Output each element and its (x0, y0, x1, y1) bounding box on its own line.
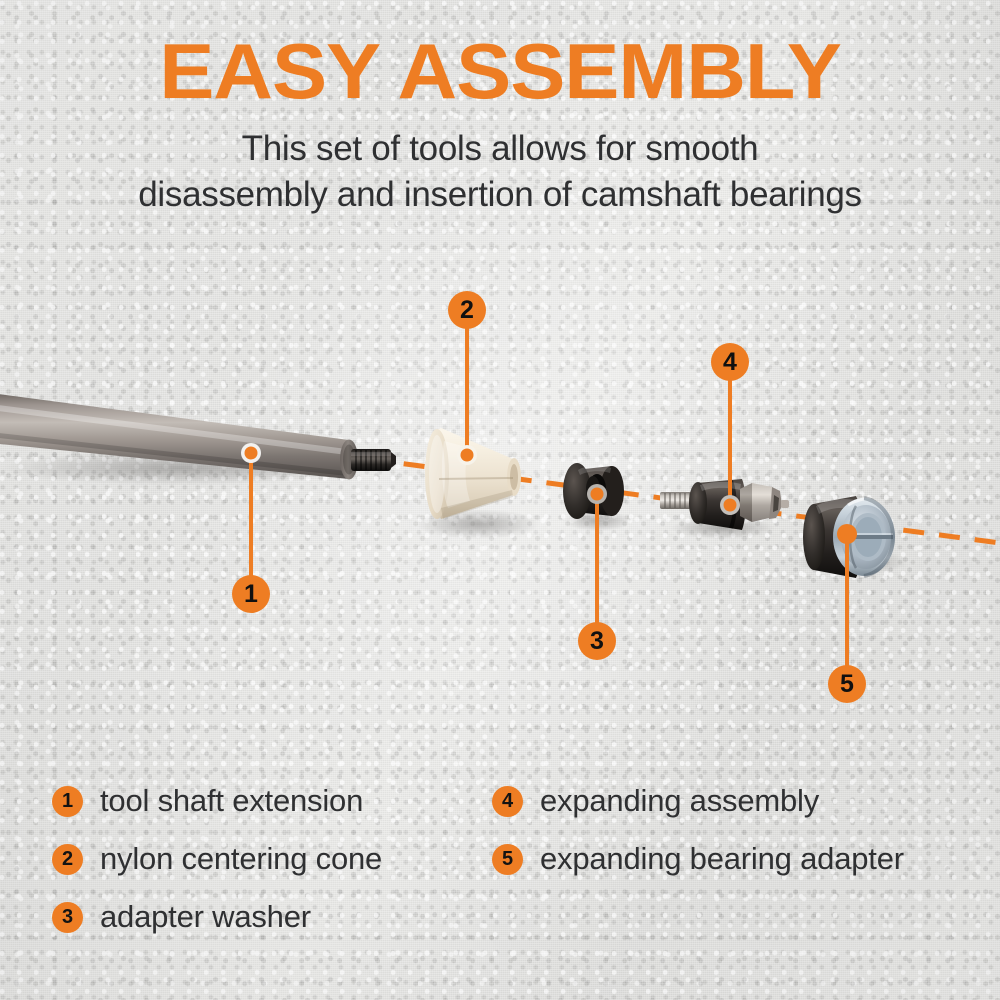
callout-badge-1[interactable]: 1 (232, 575, 270, 613)
legend-label-1: tool shaft extension (100, 784, 363, 818)
legend-badge-4: 4 (492, 786, 523, 817)
callout-badge-2[interactable]: 2 (448, 291, 486, 329)
legend-label-2: nylon centering cone (100, 842, 382, 876)
legend-item-adapter-washer[interactable]: 3 adapter washer (52, 888, 482, 946)
legend-badge-2: 2 (52, 844, 83, 875)
legend-item-tool-shaft-extension[interactable]: 1 tool shaft extension (52, 772, 482, 830)
header: EASY ASSEMBLY This set of tools allows f… (0, 28, 1000, 218)
legend-item-expanding-assembly[interactable]: 4 expanding assembly (492, 772, 972, 830)
legend-column-left: 1 tool shaft extension 2 nylon centering… (52, 772, 482, 946)
legend-badge-5: 5 (492, 844, 523, 875)
legend-label-4: expanding assembly (540, 784, 819, 818)
part-nylon-centering-cone (425, 428, 521, 519)
product-infographic-poster: EASY ASSEMBLY This set of tools allows f… (0, 0, 1000, 1000)
callout-badge-5[interactable]: 5 (828, 665, 866, 703)
legend-badge-1: 1 (52, 786, 83, 817)
callout-badge-4[interactable]: 4 (711, 343, 749, 381)
legend-label-5: expanding bearing adapter (540, 842, 904, 876)
legend-column-right: 4 expanding assembly 5 expanding bearing… (492, 772, 972, 888)
subtitle-line-2: disassembly and insertion of camshaft be… (0, 172, 1000, 218)
subtitle-line-1: This set of tools allows for smooth (0, 126, 1000, 172)
legend-label-3: adapter washer (100, 900, 311, 934)
legend-item-nylon-centering-cone[interactable]: 2 nylon centering cone (52, 830, 482, 888)
callout-badge-3[interactable]: 3 (578, 622, 616, 660)
legend-item-expanding-bearing-adapter[interactable]: 5 expanding bearing adapter (492, 830, 972, 888)
page-title: EASY ASSEMBLY (0, 28, 1000, 114)
legend-badge-3: 3 (52, 902, 83, 933)
page-subtitle: This set of tools allows for smooth disa… (0, 126, 1000, 218)
